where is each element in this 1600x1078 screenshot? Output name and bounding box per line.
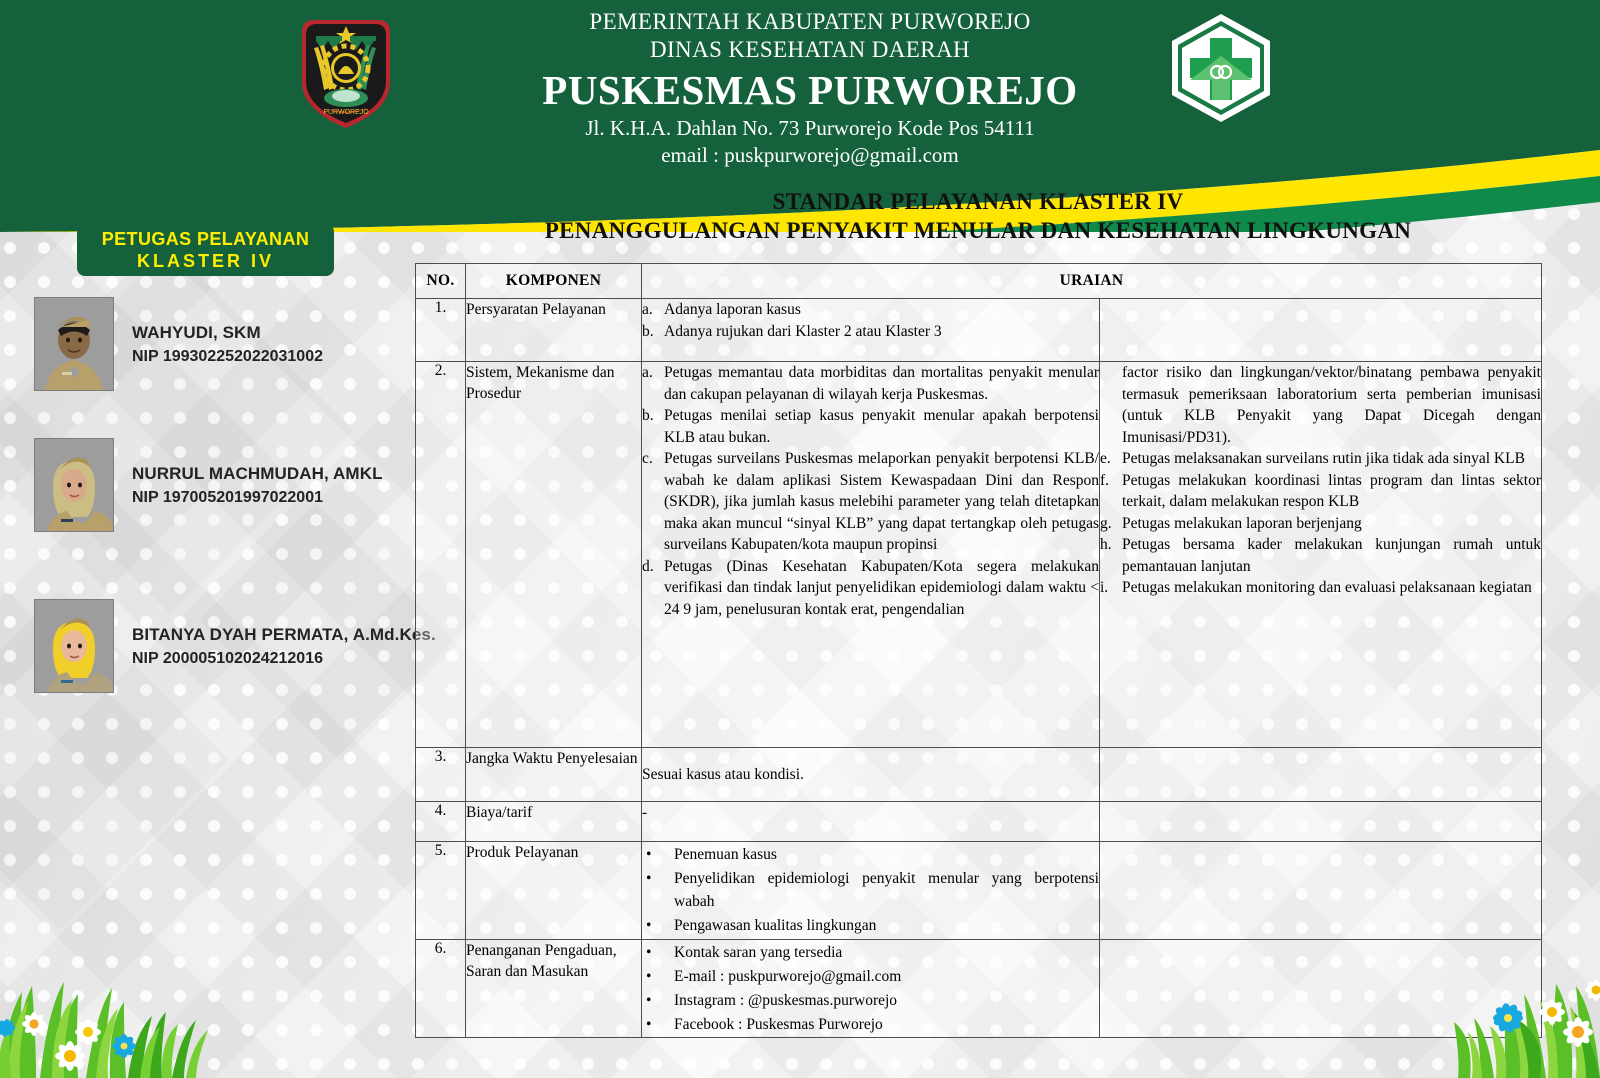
- list-marker: a.: [642, 362, 664, 405]
- list-marker: e.: [1100, 448, 1122, 470]
- list-text: Petugas surveilans Puskesmas melaporkan …: [664, 448, 1099, 556]
- standar-pelayanan-table: NO. KOMPONEN URAIAN 1. Persyaratan Pelay…: [415, 263, 1542, 1038]
- row-uraian-right: factor risiko dan lingkungan/vektor/bina…: [1100, 362, 1542, 748]
- officer-name: WAHYUDI, SKM: [132, 321, 323, 345]
- list-text: Petugas melakukan koordinasi lintas prog…: [1122, 470, 1541, 513]
- header-text-block: PEMERINTAH KABUPATEN PURWOREJO DINAS KES…: [400, 8, 1220, 169]
- list-item: e.Petugas melaksanakan surveilans rutin …: [1100, 448, 1541, 470]
- bullet-icon: •: [642, 867, 674, 913]
- list-item: •Kontak saran yang tersedia: [642, 941, 1099, 964]
- officer-name: NURRUL MACHMUDAH, AMKL: [132, 462, 383, 486]
- table-row: 1. Persyaratan Pelayanan a.Adanya lapora…: [416, 299, 1542, 362]
- row-no: 4.: [416, 802, 466, 842]
- list-item: a.Petugas memantau data morbiditas dan m…: [642, 362, 1099, 405]
- list-marker: b.: [642, 405, 664, 448]
- list-item: •Instagram : @puskesmas.purworejo: [642, 989, 1099, 1012]
- list-item: •Penyelidikan epidemiologi penyakit menu…: [642, 867, 1099, 913]
- officer-photo: [34, 438, 114, 532]
- list-item: •Penemuan kasus: [642, 843, 1099, 866]
- row-komponen: Jangka Waktu Penyelesaian: [466, 748, 642, 802]
- list-text: Petugas memantau data morbiditas dan mor…: [664, 362, 1099, 405]
- row-no: 5.: [416, 842, 466, 940]
- header-line-2: DINAS KESEHATAN DAERAH: [400, 36, 1220, 64]
- list-item: b.Petugas menilai setiap kasus penyakit …: [642, 405, 1099, 448]
- officer-portrait-icon: [35, 439, 113, 531]
- list-text: Petugas bersama kader melakukan kunjunga…: [1122, 534, 1541, 577]
- puskesmas-logo-icon: [1166, 12, 1276, 124]
- list-marker: [1100, 362, 1122, 448]
- row-uraian-right: [1100, 299, 1542, 362]
- officer-card: BITANYA DYAH PERMATA, A.Md.Kes. NIP 2000…: [34, 599, 436, 693]
- purworejo-crest-icon: PURWOREJO: [292, 10, 400, 132]
- list-text: Adanya laporan kasus: [664, 299, 1099, 321]
- badge-line-2: KLASTER IV: [137, 250, 274, 272]
- row-no: 1.: [416, 299, 466, 362]
- svg-text:PURWOREJO: PURWOREJO: [323, 109, 369, 116]
- table-row: 3. Jangka Waktu Penyelesaian Sesuai kasu…: [416, 748, 1542, 802]
- badge-line-1: PETUGAS PELAYANAN: [102, 228, 310, 250]
- title-line-1: STANDAR PELAYANAN KLASTER IV: [415, 188, 1541, 216]
- bullet-icon: •: [642, 989, 674, 1012]
- officer-info: WAHYUDI, SKM NIP 199302252022031002: [132, 321, 323, 368]
- row-no: 3.: [416, 748, 466, 802]
- header-line-1: PEMERINTAH KABUPATEN PURWOREJO: [400, 8, 1220, 36]
- list-item: a.Adanya laporan kasus: [642, 299, 1099, 321]
- row-komponen: Persyaratan Pelayanan: [466, 299, 642, 362]
- bullet-icon: •: [642, 1013, 674, 1036]
- list-marker: c.: [642, 448, 664, 556]
- list-marker: g.: [1100, 513, 1122, 535]
- row-komponen: Produk Pelayanan: [466, 842, 642, 940]
- list-marker: f.: [1100, 470, 1122, 513]
- list-item: •Facebook : Puskesmas Purworejo: [642, 1013, 1099, 1036]
- header-uraian: URAIAN: [642, 264, 1542, 299]
- bullet-icon: •: [642, 941, 674, 964]
- list-marker: i.: [1100, 577, 1122, 599]
- row-komponen: Biaya/tarif: [466, 802, 642, 842]
- header-title: PUSKESMAS PURWOREJO: [400, 65, 1220, 115]
- grass-decoration-right-icon: [1300, 928, 1600, 1078]
- list-text: Instagram : @puskesmas.purworejo: [674, 989, 1099, 1012]
- list-text: factor risiko dan lingkungan/vektor/bina…: [1122, 362, 1541, 448]
- row-uraian-left: a.Adanya laporan kasus b.Adanya rujukan …: [642, 299, 1100, 362]
- table-row: 4. Biaya/tarif -: [416, 802, 1542, 842]
- list-marker: b.: [642, 321, 664, 343]
- title-line-2: PENANGGULANGAN PENYAKIT MENULAR DAN KESE…: [415, 216, 1541, 246]
- list-text: E-mail : puskpurworejo@gmail.com: [674, 965, 1099, 988]
- officer-name: BITANYA DYAH PERMATA, A.Md.Kes.: [132, 623, 436, 647]
- list-item: i.Petugas melakukan monitoring dan evalu…: [1100, 577, 1541, 599]
- officer-card: WAHYUDI, SKM NIP 199302252022031002: [34, 297, 323, 391]
- row-uraian-left: -: [642, 802, 1100, 842]
- header-komponen: KOMPONEN: [466, 264, 642, 299]
- table-row: 5. Produk Pelayanan •Penemuan kasus •Pen…: [416, 842, 1542, 940]
- officer-info: NURRUL MACHMUDAH, AMKL NIP 1970052019970…: [132, 462, 383, 509]
- bullet-icon: •: [642, 965, 674, 988]
- list-item: •Pengawasan kualitas lingkungan: [642, 914, 1099, 937]
- header-no: NO.: [416, 264, 466, 299]
- row-uraian-left: a.Petugas memantau data morbiditas dan m…: [642, 362, 1100, 748]
- officer-photo: [34, 297, 114, 391]
- row-komponen: Penanganan Pengaduan, Saran dan Masukan: [466, 940, 642, 1038]
- petugas-badge: PETUGAS PELAYANAN KLASTER IV: [77, 224, 334, 276]
- list-item: g.Petugas melakukan laporan berjenjang: [1100, 513, 1541, 535]
- list-text: Petugas menilai setiap kasus penyakit me…: [664, 405, 1099, 448]
- header-address: Jl. K.H.A. Dahlan No. 73 Purworejo Kode …: [400, 115, 1220, 142]
- officer-portrait-icon: [35, 600, 113, 692]
- list-item: c.Petugas surveilans Puskesmas melaporka…: [642, 448, 1099, 556]
- bullet-icon: •: [642, 843, 674, 866]
- row-uraian-right: [1100, 748, 1542, 802]
- officer-photo: [34, 599, 114, 693]
- list-text: Pengawasan kualitas lingkungan: [674, 914, 1099, 937]
- list-text: Adanya rujukan dari Klaster 2 atau Klast…: [664, 321, 1099, 343]
- poster-page: PURWOREJO PEMERINTAH KABUPATEN PURWOREJO…: [0, 0, 1600, 1078]
- officer-portrait-icon: [35, 298, 113, 390]
- list-item: •E-mail : puskpurworejo@gmail.com: [642, 965, 1099, 988]
- row-uraian-left: •Kontak saran yang tersedia •E-mail : pu…: [642, 940, 1100, 1038]
- officer-info: BITANYA DYAH PERMATA, A.Md.Kes. NIP 2000…: [132, 623, 436, 670]
- list-item: b.Adanya rujukan dari Klaster 2 atau Kla…: [642, 321, 1099, 343]
- list-text: Kontak saran yang tersedia: [674, 941, 1099, 964]
- list-text: Penyelidikan epidemiologi penyakit menul…: [674, 867, 1099, 913]
- row-uraian-right: [1100, 842, 1542, 940]
- uraian-text: -: [642, 802, 1099, 823]
- list-text: Petugas melakukan monitoring dan evaluas…: [1122, 577, 1541, 599]
- row-uraian-left: Sesuai kasus atau kondisi.: [642, 748, 1100, 802]
- table-header-row: NO. KOMPONEN URAIAN: [416, 264, 1542, 299]
- list-text: Petugas melakukan laporan berjenjang: [1122, 513, 1541, 535]
- standar-title: STANDAR PELAYANAN KLASTER IV PENANGGULAN…: [415, 188, 1541, 246]
- list-item: h.Petugas bersama kader melakukan kunjun…: [1100, 534, 1541, 577]
- header-email: email : puskpurworejo@gmail.com: [400, 142, 1220, 169]
- list-marker: d.: [642, 556, 664, 621]
- officer-card: NURRUL MACHMUDAH, AMKL NIP 1970052019970…: [34, 438, 383, 532]
- list-text: Petugas (Dinas Kesehatan Kabupaten/Kota …: [664, 556, 1099, 621]
- grass-decoration-left-icon: [0, 928, 430, 1078]
- list-item: d.Petugas (Dinas Kesehatan Kabupaten/Kot…: [642, 556, 1099, 621]
- bullet-icon: •: [642, 914, 674, 937]
- row-komponen: Sistem, Mekanisme dan Prosedur: [466, 362, 642, 748]
- list-text: Penemuan kasus: [674, 843, 1099, 866]
- table-row: 2. Sistem, Mekanisme dan Prosedur a.Petu…: [416, 362, 1542, 748]
- list-text: Facebook : Puskesmas Purworejo: [674, 1013, 1099, 1036]
- list-marker: h.: [1100, 534, 1122, 577]
- officer-nip: NIP 199302252022031002: [132, 345, 323, 368]
- list-marker: a.: [642, 299, 664, 321]
- list-text: Petugas melaksanakan surveilans rutin ji…: [1122, 448, 1541, 470]
- row-uraian-left: •Penemuan kasus •Penyelidikan epidemiolo…: [642, 842, 1100, 940]
- row-uraian-right: [1100, 802, 1542, 842]
- row-no: 2.: [416, 362, 466, 748]
- officer-nip: NIP 200005102024212016: [132, 647, 436, 670]
- uraian-text: Sesuai kasus atau kondisi.: [642, 764, 1099, 785]
- list-item: factor risiko dan lingkungan/vektor/bina…: [1100, 362, 1541, 448]
- list-item: f.Petugas melakukan koordinasi lintas pr…: [1100, 470, 1541, 513]
- officer-nip: NIP 197005201997022001: [132, 486, 383, 509]
